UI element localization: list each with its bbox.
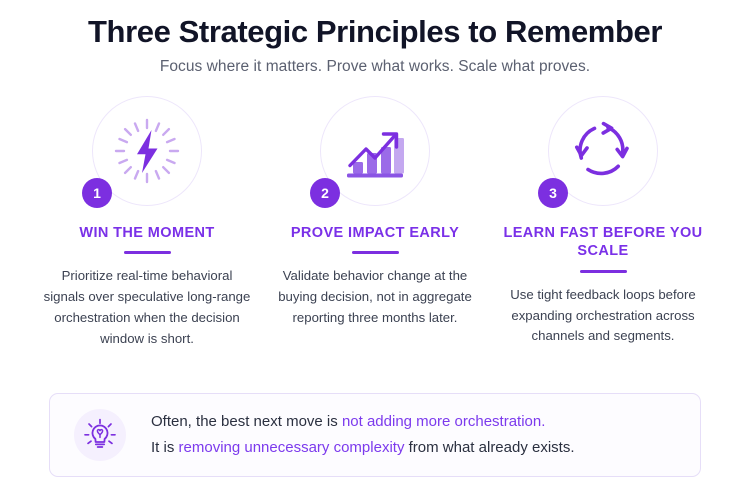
step-badge-1: 1 [82, 178, 112, 208]
callout-text: Often, the best next move is not adding … [151, 409, 575, 461]
icon-container-1: 1 [88, 92, 206, 210]
callout-line1-prefix: Often, the best next move is [151, 413, 342, 430]
heading-divider [580, 270, 627, 273]
infographic-root: Three Strategic Principles to Remember F… [0, 0, 750, 500]
step-badge-2: 2 [310, 178, 340, 208]
heading-divider [124, 251, 171, 254]
callout-line2-prefix: It is [151, 439, 179, 456]
step-badge-3: 3 [538, 178, 568, 208]
refresh-cycle-icon [567, 115, 639, 187]
icon-container-3: 3 [544, 92, 662, 210]
principle-body-2: Validate behavior change at the buying d… [270, 266, 480, 329]
icon-container-2: 2 [316, 92, 434, 210]
principle-heading-3: LEARN FAST BEFORE YOU SCALE [489, 224, 717, 261]
page-subtitle: Focus where it matters. Prove what works… [0, 58, 750, 76]
callout-line-1: Often, the best next move is not adding … [151, 409, 575, 435]
principle-heading-2: PROVE IMPACT EARLY [291, 224, 459, 243]
callout-line1-highlight: not adding more orchestration. [342, 413, 545, 430]
principle-column-1: 1 WIN THE MOMENT Prioritize real-time be… [33, 92, 261, 350]
principles-columns: 1 WIN THE MOMENT Prioritize real-time be… [0, 92, 750, 350]
principle-column-3: 3 LEARN FAST BEFORE YOU SCALE Use tight … [489, 92, 717, 348]
callout-line2-suffix: from what already exists. [404, 439, 574, 456]
header: Three Strategic Principles to Remember F… [0, 0, 750, 76]
lightbulb-icon [74, 409, 126, 461]
principle-body-1: Prioritize real-time behavioral signals … [42, 266, 252, 349]
page-title: Three Strategic Principles to Remember [0, 14, 750, 50]
principle-column-2: 2 PROVE IMPACT EARLY Validate behavior c… [261, 92, 489, 329]
lightning-bolt-icon [111, 115, 183, 187]
growth-bar-chart-icon [339, 115, 411, 187]
callout-box: Often, the best next move is not adding … [49, 393, 701, 477]
principle-heading-1: WIN THE MOMENT [79, 224, 214, 243]
callout-line2-highlight: removing unnecessary complexity [179, 439, 405, 456]
callout-line-2: It is removing unnecessary complexity fr… [151, 435, 575, 461]
heading-divider [352, 251, 399, 254]
principle-body-3: Use tight feedback loops before expandin… [498, 285, 708, 348]
